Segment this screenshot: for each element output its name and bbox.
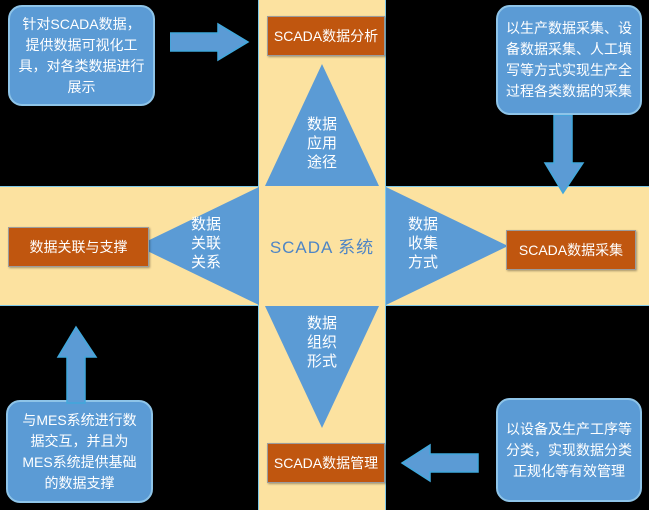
left-arrow-label-line-2: 关联 (173, 234, 239, 253)
left-arrow-label: 数据 关联 关系 (173, 215, 239, 272)
up-arrow-label-line-2: 应用 (277, 134, 367, 153)
left-arrow-label-line-1: 数据 (173, 215, 239, 234)
up-arrow-label-line-3: 途径 (277, 153, 367, 172)
up-arrow-label: 数据 应用 途径 (277, 115, 367, 172)
right-arrow-label: 数据 收集 方式 (390, 215, 456, 272)
connector-arrow-up (56, 325, 100, 405)
right-arrow-label-line-1: 数据 (390, 215, 456, 234)
connector-arrow-down (543, 115, 587, 195)
down-arrow-label-line-2: 组织 (277, 333, 367, 352)
callout-top-left: 针对SCADA数据，提供数据可视化工具，对各类数据进行展示 (8, 5, 155, 106)
callout-top-right: 以生产数据采集、设备数据采集、人工填写等方式实现生产全过程各类数据的采集 (496, 5, 642, 115)
callout-bottom-right: 以设备及生产工序等分类，实现数据分类正规化等有效管理 (496, 398, 642, 502)
connector-arrow-right (170, 22, 250, 62)
callout-bottom-left: 与MES系统进行数据交互，并且为MES系统提供基础的数据支撑 (6, 400, 153, 503)
box-scada-data-analysis[interactable]: SCADA数据分析 (267, 16, 385, 56)
down-arrow-label-line-3: 形式 (277, 352, 367, 371)
up-arrow-label-line-1: 数据 (277, 115, 367, 134)
right-arrow-label-line-2: 收集 (390, 234, 456, 253)
box-scada-data-collection[interactable]: SCADA数据采集 (506, 230, 636, 270)
connector-arrow-left (400, 443, 480, 483)
box-data-association-support[interactable]: 数据关联与支撑 (8, 227, 149, 267)
left-arrow-label-line-3: 关系 (173, 253, 239, 272)
down-arrow-label-line-1: 数据 (277, 314, 367, 333)
diagram-canvas: 数据 应用 途径 数据 组织 形式 数据 关联 关系 数据 收集 方式 SCAD… (0, 0, 649, 510)
down-arrow-label: 数据 组织 形式 (277, 314, 367, 371)
box-scada-data-management[interactable]: SCADA数据管理 (267, 443, 385, 483)
right-arrow-label-line-3: 方式 (390, 253, 456, 272)
center-label: SCADA 系统 (259, 233, 385, 258)
